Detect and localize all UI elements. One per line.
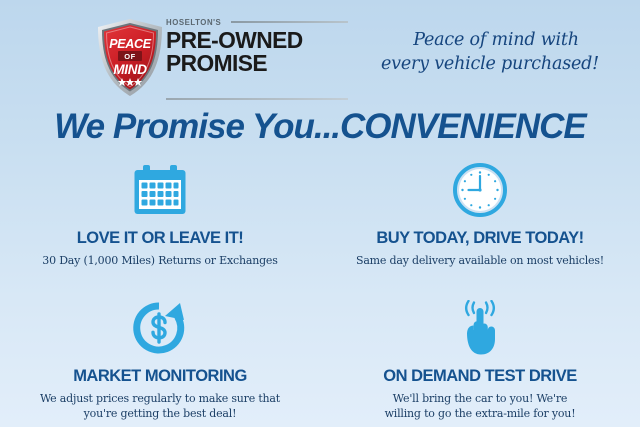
feature-cell-on-demand-test-drive: ON DEMAND TEST DRIVE We'll bring the car… <box>320 290 640 427</box>
feature-description-line-1: We'll bring the car to you! We're <box>385 391 576 406</box>
feature-title: LOVE IT OR LEAVE IT! <box>77 229 244 248</box>
feature-cell-market-monitoring: MARKET MONITORING We adjust prices regul… <box>0 290 320 427</box>
calendar-icon <box>133 164 187 216</box>
feature-description-line-2: willing to go the extra-mile for you! <box>385 406 576 421</box>
feature-icon-wrap <box>132 299 188 357</box>
shield-text-mind: MIND <box>113 62 147 77</box>
feature-description-line-2: you're getting the best deal! <box>40 406 280 421</box>
brand-wordmark: HOSELTON'S PRE-OWNED PROMISE <box>166 10 348 102</box>
clock-icon <box>453 163 507 217</box>
brand-eyebrow: HOSELTON'S <box>166 17 221 27</box>
peace-of-mind-shield-logo: PEACE OF MIND <box>96 18 164 98</box>
feature-description: 30 Day (1,000 Miles) Returns or Exchange… <box>42 253 277 268</box>
feature-description: We'll bring the car to you! We're willin… <box>385 391 576 421</box>
shield-icon: PEACE OF MIND <box>96 18 164 98</box>
feature-description: We adjust prices regularly to make sure … <box>40 391 280 421</box>
feature-description-line-1: 30 Day (1,000 Miles) Returns or Exchange… <box>42 253 277 268</box>
shield-text-of: OF <box>124 52 135 61</box>
feature-description-line-1: We adjust prices regularly to make sure … <box>40 391 280 406</box>
feature-title: MARKET MONITORING <box>73 367 247 386</box>
brand-title-line2: PROMISE <box>166 52 343 75</box>
feature-icon-wrap <box>453 161 507 219</box>
feature-icon-wrap <box>454 299 506 357</box>
brand-title-line1: PRE-OWNED <box>166 29 343 52</box>
feature-icon-wrap <box>133 161 187 219</box>
tagline-line-2: every vehicle purchased! <box>355 52 625 76</box>
banner-header: PEACE OF MIND HOSELTON'S <box>0 0 640 108</box>
eyebrow-divider <box>231 21 348 23</box>
feature-grid: LOVE IT OR LEAVE IT! 30 Day (1,000 Miles… <box>0 152 640 427</box>
brand-title: PRE-OWNED PROMISE <box>166 29 343 75</box>
feature-cell-buy-today-drive-today: BUY TODAY, DRIVE TODAY! Same day deliver… <box>320 152 640 290</box>
feature-title: ON DEMAND TEST DRIVE <box>383 367 577 386</box>
lockup-divider <box>166 98 348 100</box>
peace-of-mind-banner: PEACE OF MIND HOSELTON'S <box>0 0 640 427</box>
feature-description-line-1: Same day delivery available on most vehi… <box>356 253 604 268</box>
header-tagline: Peace of mind with every vehicle purchas… <box>355 28 625 76</box>
feature-cell-love-it-or-leave-it: LOVE IT OR LEAVE IT! 30 Day (1,000 Miles… <box>0 152 320 290</box>
feature-description: Same day delivery available on most vehi… <box>356 253 604 268</box>
tagline-line-1: Peace of mind with <box>355 28 625 52</box>
brand-lockup: PEACE OF MIND HOSELTON'S <box>96 10 348 102</box>
main-headline: We Promise You...CONVENIENCE <box>0 107 640 147</box>
dollar-refresh-icon <box>132 301 188 355</box>
tap-hand-icon <box>454 300 506 356</box>
feature-title: BUY TODAY, DRIVE TODAY! <box>376 229 583 248</box>
shield-text-peace: PEACE <box>109 37 152 51</box>
